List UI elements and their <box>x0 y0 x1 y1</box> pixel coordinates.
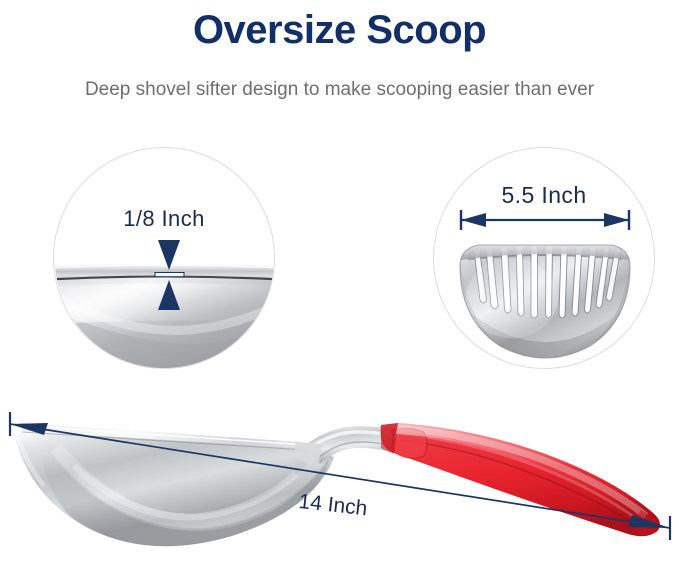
inset-sifter-width: 5.5 Inch <box>433 147 655 369</box>
edge-thickness-illustration <box>54 148 275 369</box>
page-subtitle: Deep shovel sifter design to make scoopi… <box>0 78 679 102</box>
width-dimension-arrow <box>461 210 629 230</box>
sifter-width-label: 5.5 Inch <box>434 182 654 209</box>
scoop-bowl <box>15 423 336 546</box>
thickness-gap-tick <box>155 273 184 277</box>
edge-thickness-label: 1/8 Inch <box>54 206 274 232</box>
inset-edge-thickness: 1/8 Inch <box>53 147 275 369</box>
product-image: 14 Inch <box>0 390 679 563</box>
scoop-illustration <box>0 390 679 563</box>
product-infographic: Oversize Scoop Deep shovel sifter design… <box>0 0 679 563</box>
page-title: Oversize Scoop <box>0 6 679 54</box>
